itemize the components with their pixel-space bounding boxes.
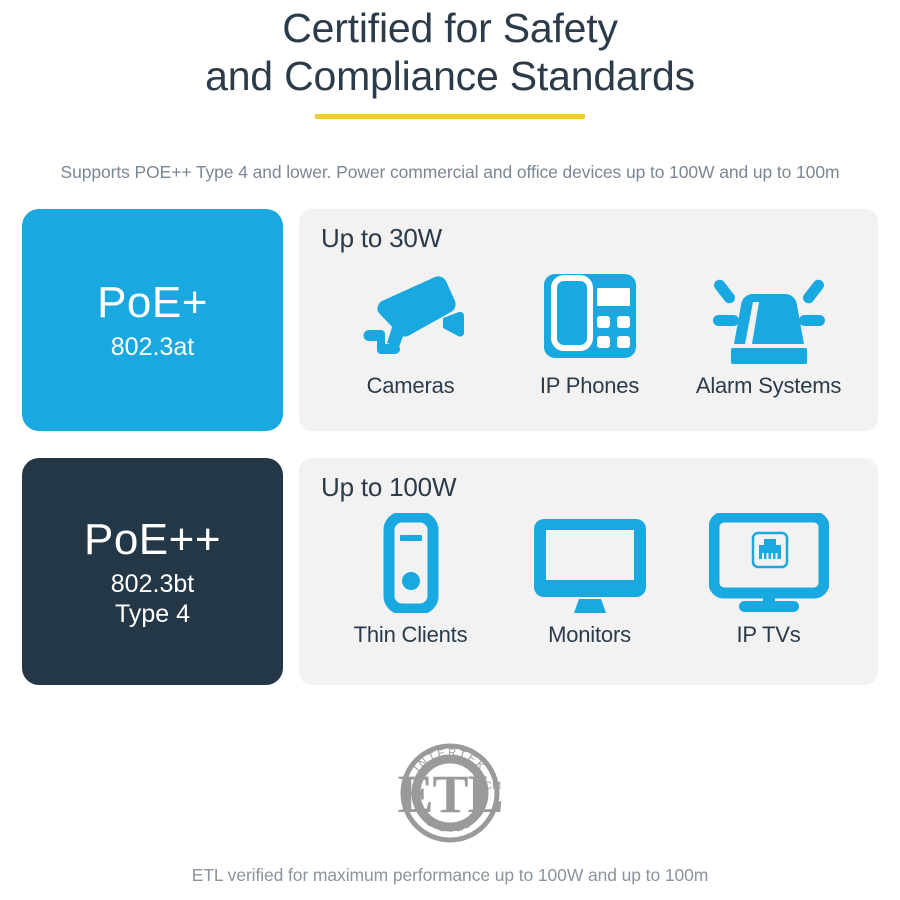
panel-power-heading: Up to 30W xyxy=(321,223,858,254)
device-item-thin-clients: Thin Clients xyxy=(321,509,500,648)
monitor-icon xyxy=(531,509,649,613)
certification-mark-wrap: ETL CM INTERTEK LISTED xyxy=(0,737,900,849)
poe-tier-row: PoE+ 802.3at Up to 30W xyxy=(22,209,878,431)
page-header: Certified for Safety and Compliance Stan… xyxy=(0,0,900,119)
svg-text:CM: CM xyxy=(484,780,501,792)
ip-tv-icon xyxy=(709,509,829,613)
badge-standard: 802.3at xyxy=(111,332,194,362)
badge-standard: 802.3bt Type 4 xyxy=(111,569,194,629)
device-item-ip-phones: IP Phones xyxy=(500,260,679,399)
svg-text:ETL: ETL xyxy=(397,764,502,824)
badge-type-value: Type 4 xyxy=(111,599,194,629)
footer-note: ETL verified for maximum performance up … xyxy=(0,865,900,886)
device-label: IP Phones xyxy=(540,373,639,399)
page-subtitle: Supports POE++ Type 4 and lower. Power c… xyxy=(0,162,900,183)
device-item-ip-tvs: IP TVs xyxy=(679,509,858,648)
cctv-camera-icon xyxy=(355,260,467,364)
device-list: Cameras xyxy=(321,260,858,399)
poe-plus-plus-badge: PoE++ 802.3bt Type 4 xyxy=(22,458,283,685)
poe-plus-device-panel: Up to 30W xyxy=(299,209,878,431)
device-label: Cameras xyxy=(367,373,455,399)
device-list: Thin Clients Monitors xyxy=(321,509,858,648)
page-footer: ETL CM INTERTEK LISTED ETL verified for … xyxy=(0,737,900,886)
poe-plus-badge: PoE+ 802.3at xyxy=(22,209,283,431)
desk-phone-icon xyxy=(540,260,640,364)
thin-client-tower-icon xyxy=(380,509,442,613)
poe-tier-rows: PoE+ 802.3at Up to 30W xyxy=(0,209,900,685)
alarm-beacon-icon xyxy=(709,260,829,364)
page-title-line-1: Certified for Safety xyxy=(0,4,900,52)
page-title-line-2: and Compliance Standards xyxy=(0,52,900,100)
device-item-monitors: Monitors xyxy=(500,509,679,648)
badge-standard-value: 802.3bt xyxy=(111,569,194,599)
device-label: Alarm Systems xyxy=(696,373,841,399)
device-label: Thin Clients xyxy=(354,622,468,648)
panel-power-heading: Up to 100W xyxy=(321,472,858,503)
poe-plus-plus-device-panel: Up to 100W Thin Clients xyxy=(299,458,878,685)
device-item-cameras: Cameras xyxy=(321,260,500,399)
device-item-alarm-systems: Alarm Systems xyxy=(679,260,858,399)
poe-tier-row: PoE++ 802.3bt Type 4 Up to 100W xyxy=(22,458,878,685)
etl-listed-icon: ETL CM INTERTEK LISTED xyxy=(391,737,509,849)
device-label: IP TVs xyxy=(736,622,800,648)
device-label: Monitors xyxy=(548,622,631,648)
badge-title: PoE++ xyxy=(84,515,221,565)
title-accent-underline xyxy=(315,114,585,119)
badge-title: PoE+ xyxy=(97,278,208,328)
